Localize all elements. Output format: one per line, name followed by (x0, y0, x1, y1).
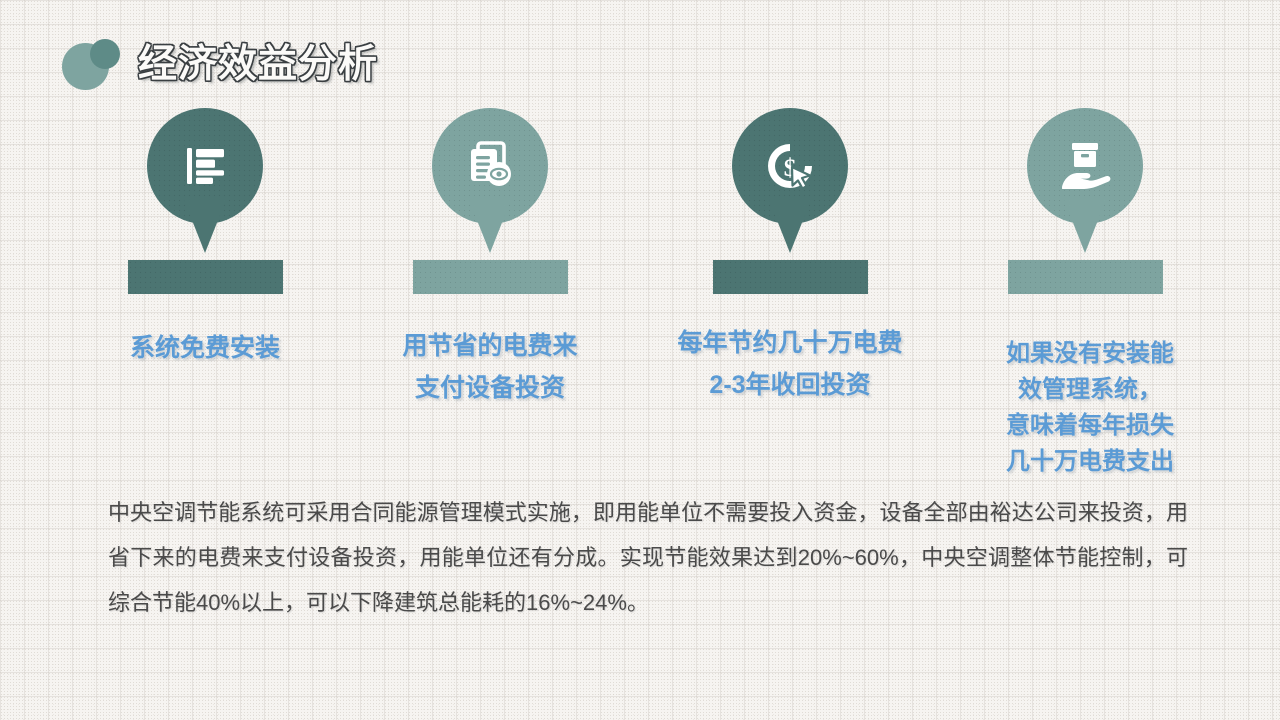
hand-holding-box-icon (1054, 137, 1116, 195)
pin-wrapper-3: $ (640, 108, 940, 253)
benefit-column-1 (55, 108, 355, 294)
map-pin-shape-2 (432, 108, 548, 224)
benefit-column-2 (340, 108, 640, 294)
pin-wrapper-2 (340, 108, 640, 253)
page-title: 经济效益分析 (138, 45, 378, 84)
benefit-caption-3: 每年节约几十万电费 2-3年收回投资 (640, 322, 940, 406)
benefit-column-4 (935, 108, 1235, 294)
pin-wrapper-1 (55, 108, 355, 253)
pedestal-bar-3 (713, 260, 868, 294)
slide-header: 经济效益分析 (56, 34, 378, 94)
benefit-caption-4: 如果没有安装能 效管理系统， 意味着每年损失 几十万电费支出 (940, 336, 1240, 480)
map-pin-shape-4 (1027, 108, 1143, 224)
bar-chart-list-icon (178, 139, 232, 193)
slide-canvas: 经济效益分析 系统免费安装 (0, 0, 1280, 720)
benefit-caption-2: 用节省的电费来 支付设备投资 (340, 325, 640, 409)
pedestal-bar-2 (413, 260, 568, 294)
body-paragraph: 中央空调节能系统可采用合同能源管理模式实施，即用能单位不需要投入资金，设备全部由… (108, 490, 1188, 625)
benefit-column-3: $ (640, 108, 940, 294)
pedestal-bar-1 (128, 260, 283, 294)
document-review-eye-icon (461, 137, 519, 195)
two-circles-logo-icon (56, 35, 132, 93)
benefit-caption-1: 系统免费安装 (55, 327, 355, 369)
map-pin-shape-3: $ (732, 108, 848, 224)
pin-wrapper-4 (935, 108, 1235, 253)
map-pin-shape-1 (147, 108, 263, 224)
pedestal-bar-4 (1008, 260, 1163, 294)
body-paragraph-text: 中央空调节能系统可采用合同能源管理模式实施，即用能单位不需要投入资金，设备全部由… (108, 490, 1188, 625)
dollar-coin-cursor-icon: $ (761, 137, 819, 195)
logo-circle-small (90, 39, 120, 69)
